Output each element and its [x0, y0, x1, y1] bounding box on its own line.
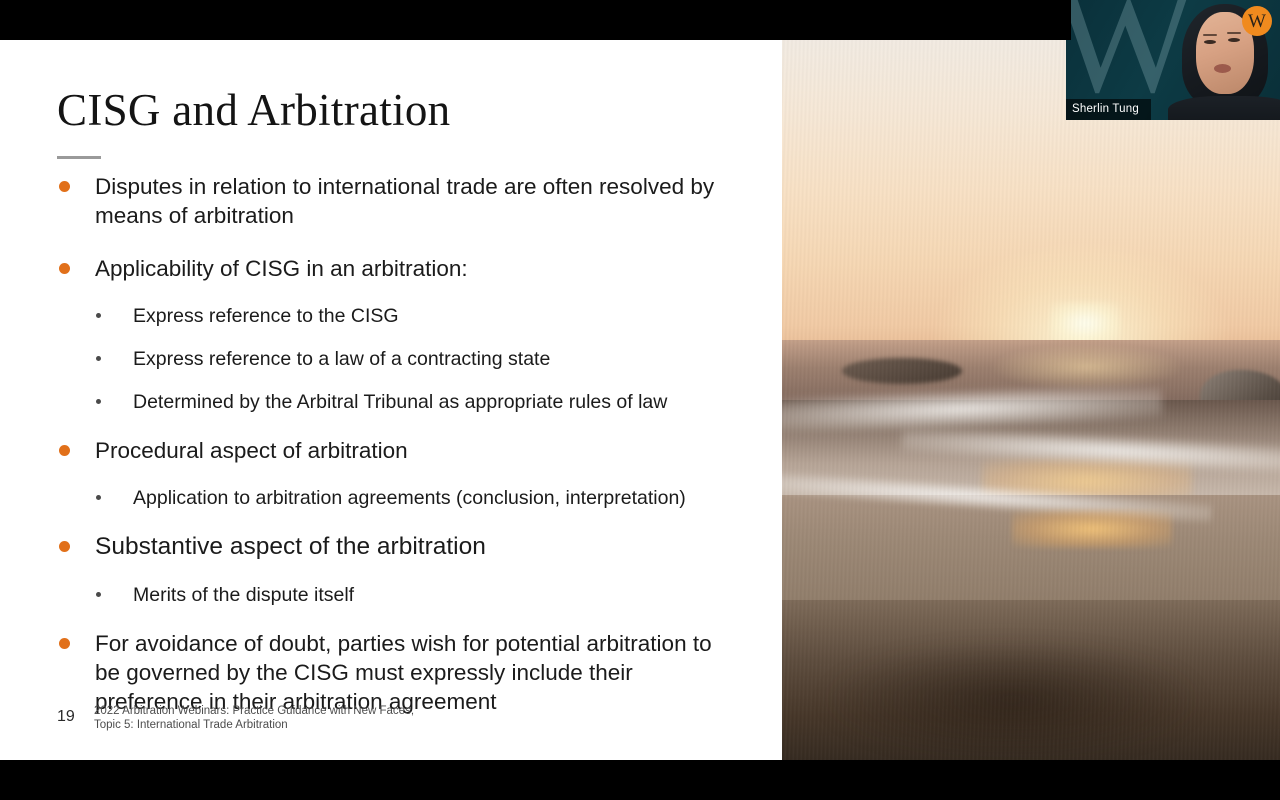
sunset-beach-photo	[782, 40, 1280, 760]
footer-text: 2022 Arbitration Webinars: Practice Guid…	[94, 705, 414, 732]
bullet-dot-icon	[59, 263, 70, 274]
bullet-dot-icon	[59, 638, 70, 649]
participant-name-label: Sherlin Tung	[1066, 99, 1151, 120]
sub-bullet-dot-icon	[96, 356, 101, 361]
eye-left	[1204, 40, 1216, 44]
spacer	[0, 422, 782, 436]
spacer	[0, 518, 782, 532]
spacer	[0, 475, 782, 485]
title-underline-rule	[57, 156, 101, 159]
slide-footer: 19 2022 Arbitration Webinars: Practice G…	[0, 705, 782, 760]
sub-bullet-text: Application to arbitration agreements (c…	[133, 487, 686, 509]
slide-number: 19	[57, 708, 75, 726]
sub-bullet-text: Determined by the Arbitral Tribunal as a…	[133, 391, 667, 413]
bullet-text: Applicability of CISG in an arbitration:	[95, 256, 468, 281]
slide-title: CISG and Arbitration	[57, 88, 450, 133]
bullet-item: For avoidance of doubt, parties wish for…	[0, 629, 782, 716]
spacer	[0, 336, 782, 346]
slide-text-panel: CISG and Arbitration Disputes in relatio…	[0, 40, 782, 760]
sub-bullet-item: Application to arbitration agreements (c…	[0, 485, 782, 512]
sub-bullet-dot-icon	[96, 399, 101, 404]
letterbox-bottom-bar	[0, 760, 1280, 800]
sub-bullet-dot-icon	[96, 495, 101, 500]
spacer	[0, 293, 782, 303]
mouth	[1214, 64, 1231, 73]
sub-bullet-item: Express reference to a law of a contract…	[0, 346, 782, 373]
sun-glow	[1050, 302, 1120, 344]
sub-bullet-text: Merits of the dispute itself	[133, 584, 354, 606]
w-logo-badge-icon: W	[1242, 6, 1272, 36]
sub-bullet-text: Express reference to the CISG	[133, 305, 399, 327]
bullet-text: For avoidance of doubt, parties wish for…	[95, 631, 712, 714]
sea-sun-reflection	[992, 344, 1182, 390]
spacer	[0, 572, 782, 582]
sub-bullet-text: Express reference to a law of a contract…	[133, 348, 550, 370]
webcam-participant-tile[interactable]: W W Sherlin Tung	[1066, 0, 1280, 120]
water-glint	[1012, 510, 1172, 548]
bullet-list: Disputes in relation to international tr…	[0, 172, 782, 726]
spacer	[0, 615, 782, 629]
rock-formation	[842, 358, 962, 384]
bullet-text: Disputes in relation to international tr…	[95, 174, 714, 228]
sub-bullet-item: Merits of the dispute itself	[0, 582, 782, 609]
sub-bullet-item: Express reference to the CISG	[0, 303, 782, 330]
eye-right	[1228, 38, 1240, 42]
sub-bullet-dot-icon	[96, 313, 101, 318]
footer-line-2: Topic 5: International Trade Arbitration	[94, 719, 414, 733]
footer-line-1: 2022 Arbitration Webinars: Practice Guid…	[94, 705, 414, 719]
spacer	[0, 240, 782, 254]
bullet-item: Procedural aspect of arbitration	[0, 436, 782, 465]
sub-bullet-item: Determined by the Arbitral Tribunal as a…	[0, 389, 782, 416]
sub-bullet-dot-icon	[96, 592, 101, 597]
bullet-item: Substantive aspect of the arbitration	[0, 532, 782, 562]
bullet-dot-icon	[59, 445, 70, 456]
presentation-slide: CISG and Arbitration Disputes in relatio…	[0, 40, 1280, 760]
bullet-dot-icon	[59, 541, 70, 552]
bullet-item: Disputes in relation to international tr…	[0, 172, 782, 230]
bullet-item: Applicability of CISG in an arbitration:	[0, 254, 782, 283]
bullet-text: Substantive aspect of the arbitration	[95, 533, 486, 560]
eyebrow-left	[1203, 34, 1217, 36]
shoulders	[1168, 96, 1280, 120]
spacer	[0, 379, 782, 389]
video-player-viewport: CISG and Arbitration Disputes in relatio…	[0, 0, 1280, 800]
eyebrow-right	[1227, 32, 1241, 34]
sand-shadow	[822, 640, 1202, 760]
bullet-text: Procedural aspect of arbitration	[95, 438, 408, 463]
bullet-dot-icon	[59, 181, 70, 192]
tile-edge-mask	[1066, 0, 1071, 40]
